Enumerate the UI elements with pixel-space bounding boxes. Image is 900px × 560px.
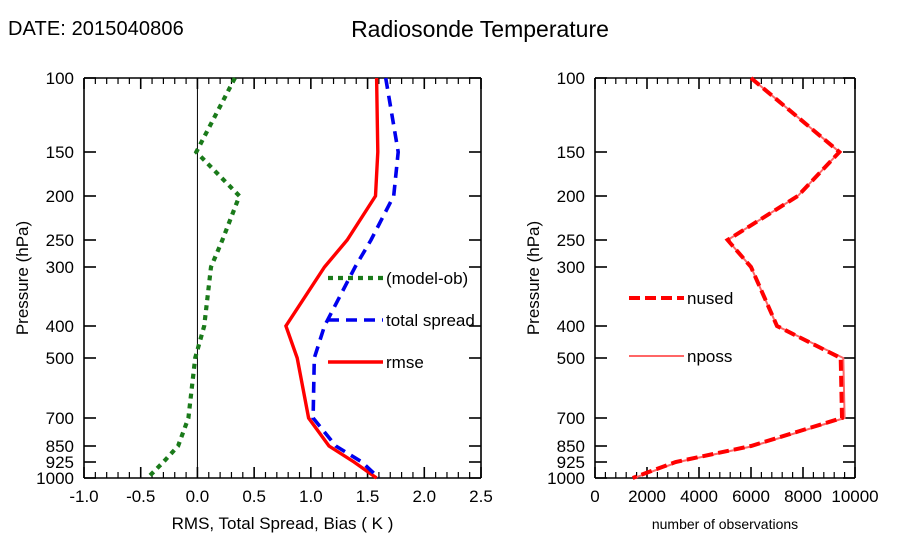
right-panel-yaxis-title: Pressure (hPa)	[524, 221, 543, 335]
date-label: DATE: 2015040806	[8, 18, 184, 41]
right-panel-xtick-label: 2000	[628, 487, 666, 506]
series-bias-line	[148, 78, 240, 478]
series-nused-line	[633, 78, 842, 478]
right-panel-ytick-label: 300	[557, 258, 585, 277]
left-panel-xtick-label: 0.0	[186, 487, 210, 506]
left-panel-xtick-label: 1.5	[356, 487, 380, 506]
right-panel-ytick-label: 100	[557, 69, 585, 88]
left-panel-ytick-label: 300	[46, 258, 74, 277]
left-panel-xtick-label: 2.0	[412, 487, 436, 506]
right-panel-ytick-label: 250	[557, 231, 585, 250]
right-panel-ytick-label: 1000	[547, 469, 585, 488]
left-panel-xtick-label: 0.5	[242, 487, 266, 506]
right-panel-ytick-label: 200	[557, 187, 585, 206]
left-panel-xaxis-title: RMS, Total Spread, Bias ( K )	[172, 514, 394, 533]
series-nposs-line	[634, 78, 845, 478]
legend-label-2: rmse	[386, 353, 424, 372]
right-panel-xaxis-title: number of observations	[652, 516, 798, 532]
left-panel-ytick-label: 400	[46, 317, 74, 336]
left-panel-ytick-label: 150	[46, 143, 74, 162]
right-panel-ytick-label: 700	[557, 409, 585, 428]
right-panel-ytick-label: 150	[557, 143, 585, 162]
right-panel-xtick-label: 10000	[831, 487, 878, 506]
left-panel-ytick-label: 250	[46, 231, 74, 250]
right-panel-xtick-label: 4000	[680, 487, 718, 506]
left-panel-ytick-label: 500	[46, 349, 74, 368]
chart-canvas: -1.0-0.50.00.51.01.52.02.510015020025030…	[0, 0, 900, 560]
left-panel-ytick-label: 200	[46, 187, 74, 206]
left-panel-xtick-label: 2.5	[469, 487, 493, 506]
right-panel-ytick-label: 400	[557, 317, 585, 336]
right-panel-xtick-label: 6000	[732, 487, 770, 506]
left-panel-ytick-label: 700	[46, 409, 74, 428]
right-legend-label-1: nposs	[687, 347, 732, 366]
figure-title: Radiosonde Temperature	[300, 16, 660, 43]
left-panel-ytick-label: 1000	[36, 469, 74, 488]
left-panel-xtick-label: -0.5	[126, 487, 155, 506]
left-panel-ytick-label: 100	[46, 69, 74, 88]
right-panel-xtick-label: 0	[590, 487, 599, 506]
figure-root: DATE: 2015040806 Radiosonde Temperature …	[0, 0, 900, 560]
left-panel-xtick-label: -1.0	[69, 487, 98, 506]
left-panel-yaxis-title: Pressure (hPa)	[13, 221, 32, 335]
right-panel-xtick-label: 8000	[784, 487, 822, 506]
legend-label-0: (model-ob)	[386, 269, 468, 288]
right-legend-label-0: nused	[687, 289, 733, 308]
left-panel-xtick-label: 1.0	[299, 487, 323, 506]
right-panel-ytick-label: 500	[557, 349, 585, 368]
legend-label-1: total spread	[386, 311, 475, 330]
